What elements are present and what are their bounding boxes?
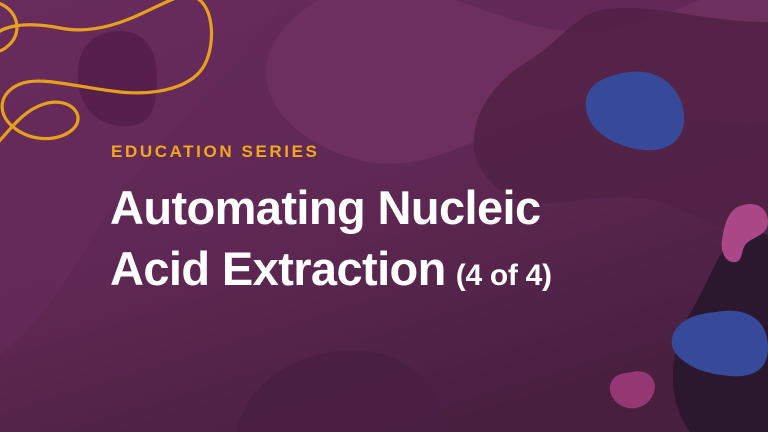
slide-title: Automating Nucleic Acid Extraction(4 of … [110,178,730,299]
slide-text-layer: EDUCATION SERIES Automating Nucleic Acid… [0,0,768,432]
part-number-label: (4 of 4) [456,259,552,292]
series-eyebrow-label: EDUCATION SERIES [111,143,319,160]
title-slide: EDUCATION SERIES Automating Nucleic Acid… [0,0,768,432]
title-line-2: Acid Extraction [110,242,446,295]
title-line-1: Automating Nucleic [110,178,730,239]
title-line-2-wrapper: Acid Extraction(4 of 4) [110,239,730,300]
